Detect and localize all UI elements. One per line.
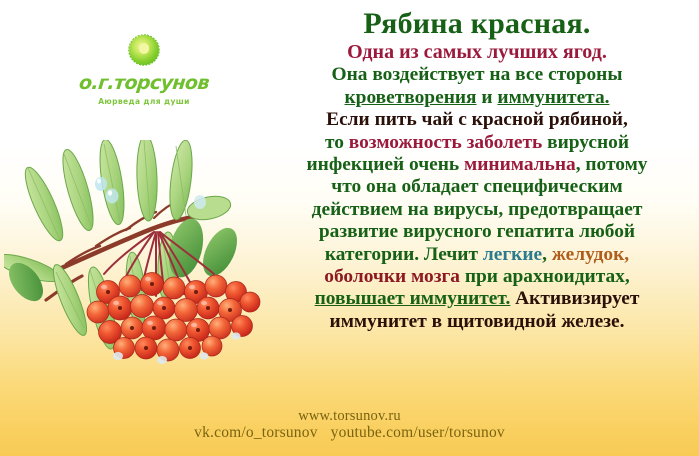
body-text-krovetvoreniya: кроветворения <box>345 87 477 108</box>
logo-wordmark: о.г.торсунов <box>63 74 225 93</box>
poster-canvas: о.г.торсунов Аюрведа для души <box>0 0 699 456</box>
footer-social-line: vk.com/o_torsunovyoutube.com/user/torsun… <box>0 424 699 441</box>
body-text-vozmozhnost: возможность заболеть <box>349 132 543 153</box>
body-line-4: то возможность заболеть вирусной <box>258 132 696 154</box>
footer-website-line: www.torsunov.ru <box>0 408 699 424</box>
body-text-aktivisiruet: Активизирует <box>510 288 639 309</box>
body-text-immuniteta: иммунитета. <box>497 87 609 108</box>
body-text-to: то <box>325 132 349 153</box>
rowan-branch-illustration <box>4 140 270 390</box>
body-text-obolochki-mozga: оболочки мозга <box>324 266 460 287</box>
body-line-12: иммунитет в щитовидной железе. <box>258 311 696 333</box>
body-line-3: Если пить чай с красной рябиной, <box>258 109 696 131</box>
youtube-link[interactable]: youtube.com/user/torsunov <box>331 424 505 441</box>
body-line-8: развитие вирусного гепатита любой <box>258 221 696 243</box>
logo-tagline: Аюрведа для души <box>64 97 224 106</box>
body-text-legkie: легкие <box>483 244 542 265</box>
poster-text-block: Рябина красная. Одна из самых лучших яго… <box>258 8 696 333</box>
body-line-7: действием на вирусы, предотвращает <box>258 199 696 221</box>
body-text-potomu: , потому <box>576 154 648 175</box>
body-line-5: инфекцией очень минимальна, потому <box>258 154 696 176</box>
body-text-comma: , <box>542 244 552 265</box>
body-text: действием на вирусы, предотвращает <box>312 199 643 220</box>
body-text-infekciey: инфекцией очень <box>306 154 464 175</box>
brand-logo[interactable]: о.г.торсунов Аюрведа для души <box>64 28 224 106</box>
body-text: Если пить чай с красной рябиной, <box>326 109 628 130</box>
body-text-minimalna: минимальна <box>464 154 576 175</box>
body-text-and: и <box>477 87 498 108</box>
vk-link[interactable]: vk.com/o_torsunov <box>194 424 318 441</box>
body-line-10: оболочки мозга при арахноидитах, <box>258 266 696 288</box>
body-text-povyshaet-immunitet: повышает иммунитет. <box>315 288 511 309</box>
body-line-2: кроветворения и иммунитета. <box>258 87 696 109</box>
body-line-6: что она обладает специфическим <box>258 176 696 198</box>
website-link[interactable]: www.torsunov.ru <box>298 408 401 424</box>
body-text-kategorii: категории. Лечит <box>325 244 483 265</box>
footer: www.torsunov.ru vk.com/o_torsunovyoutube… <box>0 408 699 442</box>
body-text: развитие вирусного гепатита любой <box>319 221 635 242</box>
body-text: Она воздействует на все стороны <box>332 64 623 85</box>
body-line-1: Она воздействует на все стороны <box>258 64 696 86</box>
body-line-11: повышает иммунитет. Активизирует <box>258 288 696 310</box>
body-text-arahnoiditah: при арахноидитах, <box>460 266 630 287</box>
body-text-virusnoy: вирусной <box>542 132 629 153</box>
green-sunburst-flower-icon <box>122 28 166 72</box>
body-text: что она обладает специфическим <box>331 176 622 197</box>
page-title: Рябина красная. <box>258 8 696 40</box>
page-subtitle: Одна из самых лучших ягод. <box>258 41 696 63</box>
body-text: иммунитет в щитовидной железе. <box>330 311 625 332</box>
body-line-9: категории. Лечит легкие, желудок, <box>258 244 696 266</box>
body-text-zheludok: желудок, <box>552 244 629 265</box>
